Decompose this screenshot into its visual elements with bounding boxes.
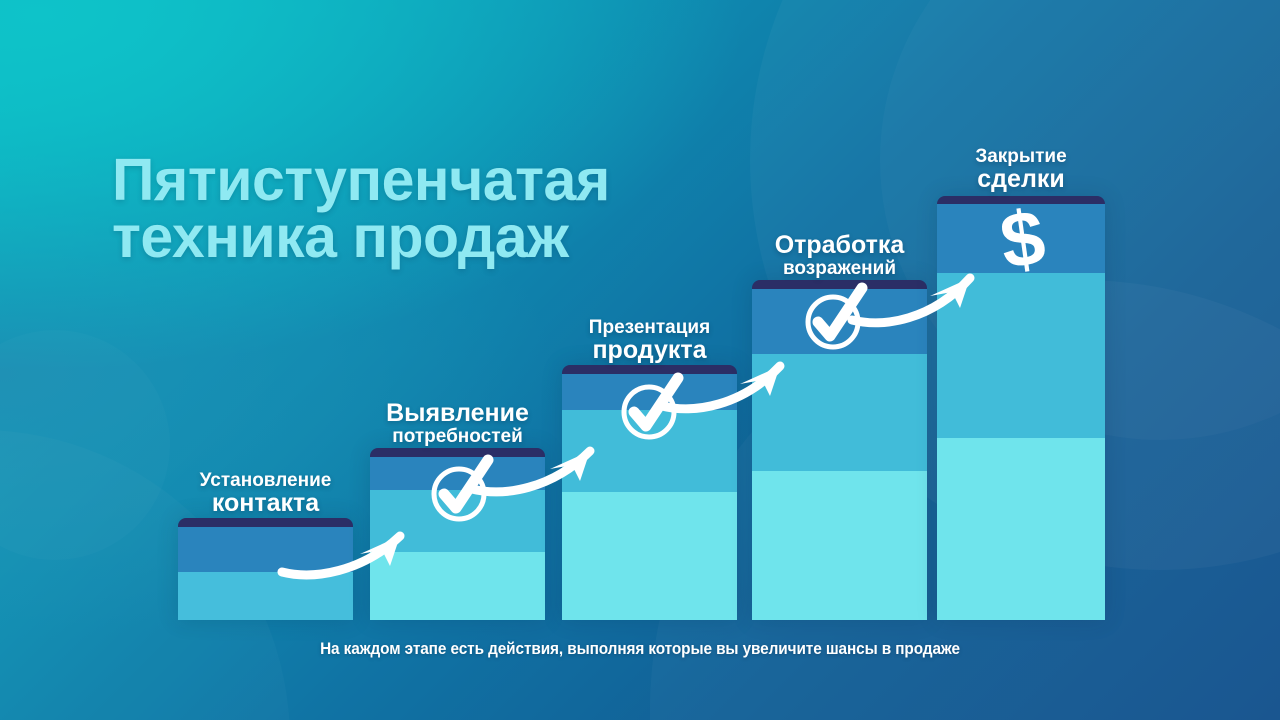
bar-2-segment-base xyxy=(370,552,545,620)
svg-text:$: $ xyxy=(995,196,1050,282)
bar-1-segment-cap xyxy=(178,518,353,527)
dollar-icon: $ xyxy=(985,196,1065,282)
check-circle-icon-1 xyxy=(428,458,494,524)
step-label-2-line1: Выявление xyxy=(386,401,529,427)
step-label-2: Выявление потребностей xyxy=(386,401,529,446)
step-label-5-line2: сделки xyxy=(975,167,1066,193)
step-label-1: Установление контакта xyxy=(200,471,332,516)
bar-3-segment-cap xyxy=(562,365,737,374)
infographic-slide: Пятиступенчатая техника продаж Установле… xyxy=(0,0,1280,720)
step-label-4: Отработка возражений xyxy=(775,233,905,278)
bar-4-segment-mid xyxy=(752,354,927,471)
bar-1 xyxy=(178,518,353,620)
bar-3-segment-base xyxy=(562,492,737,620)
check-circle-icon-2 xyxy=(618,376,684,442)
bar-5-segment-mid xyxy=(937,273,1105,438)
bar-1-segment-base xyxy=(178,572,353,620)
step-label-4-line1: Отработка xyxy=(775,233,905,259)
check-circle-icon-3 xyxy=(802,286,868,352)
step-label-1-line2: контакта xyxy=(200,491,332,517)
step-label-3: Презентация продукта xyxy=(589,318,710,363)
step-label-3-line2: продукта xyxy=(589,338,710,364)
step-label-2-line2: потребностей xyxy=(386,427,529,446)
footer-caption: На каждом этапе есть действия, выполняя … xyxy=(45,640,1235,659)
chart-step-1: Установление контакта xyxy=(178,518,353,620)
step-label-5: Закрытие сделки xyxy=(975,147,1066,192)
step-label-4-line2: возражений xyxy=(775,259,905,278)
bar-4-segment-base xyxy=(752,471,927,620)
bar-5-segment-base xyxy=(937,438,1105,620)
staircase-bar-chart: Установление контакта Выявление потребно… xyxy=(0,0,1280,720)
bar-1-segment-top xyxy=(178,527,353,572)
bar-2-segment-cap xyxy=(370,448,545,457)
